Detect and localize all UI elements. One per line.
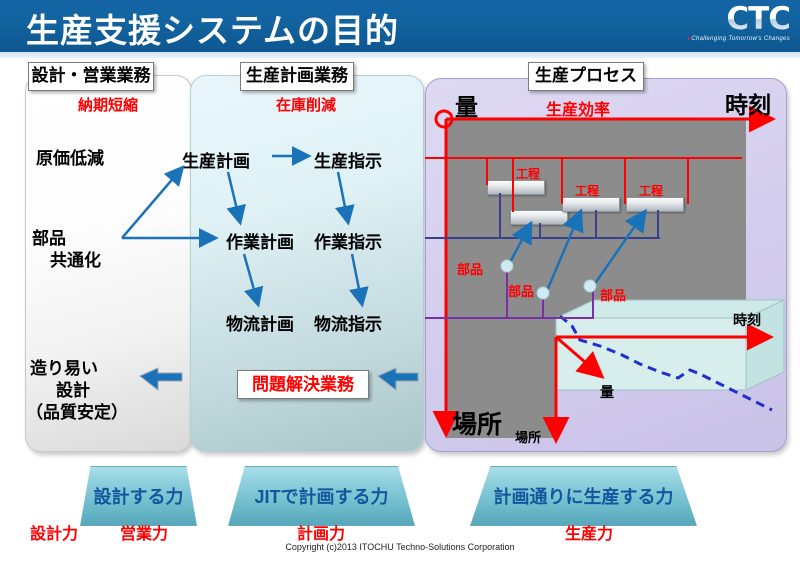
middle-highlight-label: 在庫削減	[250, 94, 362, 115]
flow-logistics-instruction: 物流指示	[314, 310, 382, 335]
capability-design: 設計力	[30, 520, 78, 544]
process-label-3: 工程	[639, 182, 663, 199]
capability-sales: 営業力	[120, 520, 168, 544]
left-item-parts: 部品	[32, 228, 66, 250]
process-bar-3	[562, 197, 620, 212]
problem-solving-box: 問題解決業務	[237, 370, 369, 399]
slide-root: 生産支援システムの目的 CTC ▸Challenging Tomorrow's …	[0, 0, 800, 568]
flow-production-instruction: 生産指示	[314, 147, 382, 172]
ctc-logo: CTC ▸Challenging Tomorrow's Changes	[662, 4, 790, 48]
flow-work-plan: 作業計画	[226, 228, 294, 253]
part-label-3: 部品	[600, 285, 626, 304]
process-gantt-field	[446, 120, 746, 352]
panel-caption-design-sales: 設計・営業業務	[28, 62, 154, 91]
logo-wordmark: CTC	[662, 4, 790, 34]
box-axis-place: 場所	[515, 427, 541, 446]
box-axis-quantity: 量	[600, 382, 614, 402]
part-label-1: 部品	[457, 259, 483, 278]
banner-production-as-planned[interactable]: 計画通りに生産する力	[470, 466, 697, 526]
logo-tagline-text: Challenging Tomorrow's Changes	[691, 36, 790, 42]
banner-jit-planning[interactable]: JITで計画する力	[228, 466, 415, 526]
box-axis-time: 時刻	[733, 310, 761, 330]
banner-design-capability[interactable]: 設計する力	[80, 466, 197, 526]
capability-planning: 計画力	[297, 520, 345, 544]
process-bar-4	[626, 197, 684, 212]
label-efficiency: 生産効率	[546, 96, 610, 120]
axis-label-quantity: 量	[455, 88, 478, 122]
copyright-notice: Copyright (c)2013 ITOCHU Techno-Solution…	[0, 542, 800, 552]
part-label-2: 部品	[508, 281, 534, 300]
flow-work-instruction: 作業指示	[314, 228, 382, 253]
panel-caption-production-plan: 生産計画業務	[240, 62, 354, 91]
left-item-quality-stable: （品質安定）	[26, 402, 128, 424]
left-highlight-label: 納期短縮	[46, 94, 170, 115]
logo-tagline: ▸Challenging Tomorrow's Changes	[662, 35, 790, 42]
left-item-easy-to-build: 造り易い	[30, 358, 98, 380]
flow-logistics-plan: 物流計画	[226, 310, 294, 335]
process-label-2: 工程	[575, 182, 599, 199]
left-item-cost-reduction: 原価低減	[36, 148, 104, 170]
page-title: 生産支援システムの目的	[26, 4, 399, 52]
process-bar-2	[510, 210, 568, 225]
left-item-commonization: 共通化	[50, 250, 101, 272]
process-label-1: 工程	[516, 165, 540, 182]
capability-production: 生産力	[565, 520, 613, 544]
panel-caption-production-process: 生産プロセス	[528, 62, 644, 91]
axis-label-place: 場所	[452, 405, 502, 441]
axis-label-time: 時刻	[725, 86, 771, 120]
flow-production-plan: 生産計画	[182, 147, 250, 172]
process-bar-1	[487, 180, 545, 195]
left-item-design: 設計	[56, 380, 90, 402]
